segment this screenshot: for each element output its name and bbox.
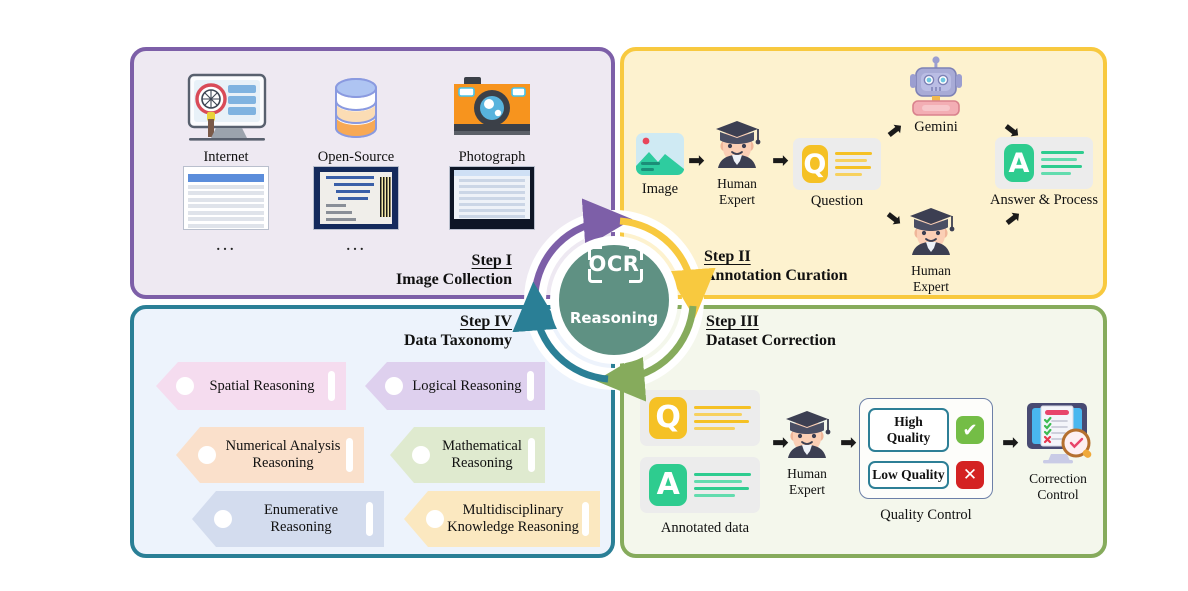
node-label-annotated-data: Annotated data — [640, 520, 770, 537]
photo-icon — [635, 132, 685, 178]
tag-label-line1: Mathematical — [442, 438, 522, 455]
taxonomy-tag-multidisciplinary[interactable]: Multidisciplinary Knowledge Reasoning — [404, 491, 600, 547]
step-1-name: Image Collection — [330, 271, 512, 290]
node-label-answer: Answer & Process — [984, 192, 1104, 209]
node-label-quality-control: Quality Control — [859, 507, 993, 524]
answer-badge: A — [649, 464, 687, 506]
low-quality-button[interactable]: Low Quality — [868, 461, 949, 489]
step-3-label: Step III Dataset Correction — [706, 313, 936, 351]
answer-text-lines — [694, 473, 751, 498]
node-annotated-data: Q A Annotated data — [640, 390, 770, 537]
arrow-image-to-expert: ➡ — [688, 150, 705, 170]
node-label-expert3-line2: Expert — [776, 482, 838, 498]
tag-label-line1: Numerical Analysis — [226, 438, 341, 455]
monitor-search-icon — [180, 72, 272, 144]
tag-label-line2: Reasoning — [252, 455, 313, 472]
node-quality-control: High Quality ✔ Low Quality ✕ Quality Con… — [859, 398, 1001, 524]
ellipsis-internet: ... — [166, 234, 286, 256]
node-question: Q Question — [793, 138, 881, 210]
source-internet: Internet ... — [166, 72, 286, 256]
high-quality-button[interactable]: High Quality — [868, 408, 949, 452]
node-label-correction-line2: Control — [1018, 487, 1098, 503]
source-open-source: Open-Source ... — [296, 72, 416, 256]
question-text-lines — [835, 152, 872, 177]
arrow-quality-to-correction: ➡ — [1002, 432, 1019, 452]
arrow-expert-to-question: ➡ — [772, 150, 789, 170]
hub-title: OCR — [528, 252, 700, 276]
question-badge: Q — [802, 145, 828, 183]
node-label-correction-line1: Correction — [1018, 471, 1098, 487]
step-4-number: Step IV — [330, 313, 512, 332]
step-4-name: Data Taxonomy — [330, 332, 512, 351]
arrow-expert-to-quality: ➡ — [840, 432, 857, 452]
tag-label-line2: Reasoning — [270, 519, 331, 536]
taxonomy-tag-spatial[interactable]: Spatial Reasoning — [156, 362, 346, 410]
graduate-avatar-icon — [708, 116, 766, 174]
taxonomy-tag-numerical[interactable]: Numerical Analysis Reasoning — [176, 427, 364, 483]
taxonomy-tag-enumerative[interactable]: Enumerative Reasoning — [192, 491, 384, 547]
ocr-reasoning-badge: OCR Reasoning — [528, 214, 700, 386]
camera-icon — [446, 72, 538, 144]
check-icon: ✔ — [956, 416, 984, 444]
node-answer-process: A Answer & Process — [984, 137, 1104, 209]
node-image: Image — [632, 132, 688, 198]
quality-control-icon: High Quality ✔ Low Quality ✕ — [859, 398, 993, 499]
answer-text-lines — [1041, 151, 1084, 176]
question-card-icon: Q — [793, 138, 881, 190]
answer-badge: A — [1004, 144, 1034, 182]
source-label: Open-Source — [296, 149, 416, 166]
annotated-answer-card: A — [640, 457, 760, 513]
taxonomy-tag-mathematical[interactable]: Mathematical Reasoning — [390, 427, 545, 483]
correction-monitor-icon — [1021, 400, 1095, 468]
robot-icon — [906, 56, 966, 118]
step-1-label: Step I Image Collection — [330, 252, 512, 290]
tag-label-line1: Enumerative — [264, 502, 338, 519]
step-4-label: Step IV Data Taxonomy — [330, 313, 512, 351]
hub-subtitle: Reasoning — [528, 309, 700, 327]
answer-card-icon: A — [995, 137, 1093, 189]
thumbnail-web-table — [183, 166, 269, 230]
graduate-avatar-icon — [778, 406, 836, 464]
node-label-gemini: Gemini — [904, 119, 968, 136]
cross-icon: ✕ — [956, 461, 984, 489]
tag-label-line2: Knowledge Reasoning — [447, 519, 579, 536]
step-2-name: Annotation Curation — [704, 267, 934, 286]
step-3-name: Dataset Correction — [706, 332, 936, 351]
node-human-expert-step3: Human Expert — [776, 406, 838, 498]
node-gemini: Gemini — [904, 56, 968, 136]
tag-label-line1: Multidisciplinary — [463, 502, 564, 519]
source-label: Internet — [166, 149, 286, 166]
database-icon — [310, 72, 402, 144]
node-correction-control: Correction Control — [1018, 400, 1098, 503]
tag-label-line1: Spatial Reasoning — [209, 378, 314, 395]
step-1-number: Step I — [330, 252, 512, 271]
tag-label-line2: Reasoning — [451, 455, 512, 472]
thumbnail-receipt — [313, 166, 399, 230]
node-label-question: Question — [793, 193, 881, 210]
node-label-expert3-line1: Human — [776, 466, 838, 482]
step-2-label: Step II Annotation Curation — [704, 248, 934, 286]
source-label: Photograph — [432, 149, 552, 166]
